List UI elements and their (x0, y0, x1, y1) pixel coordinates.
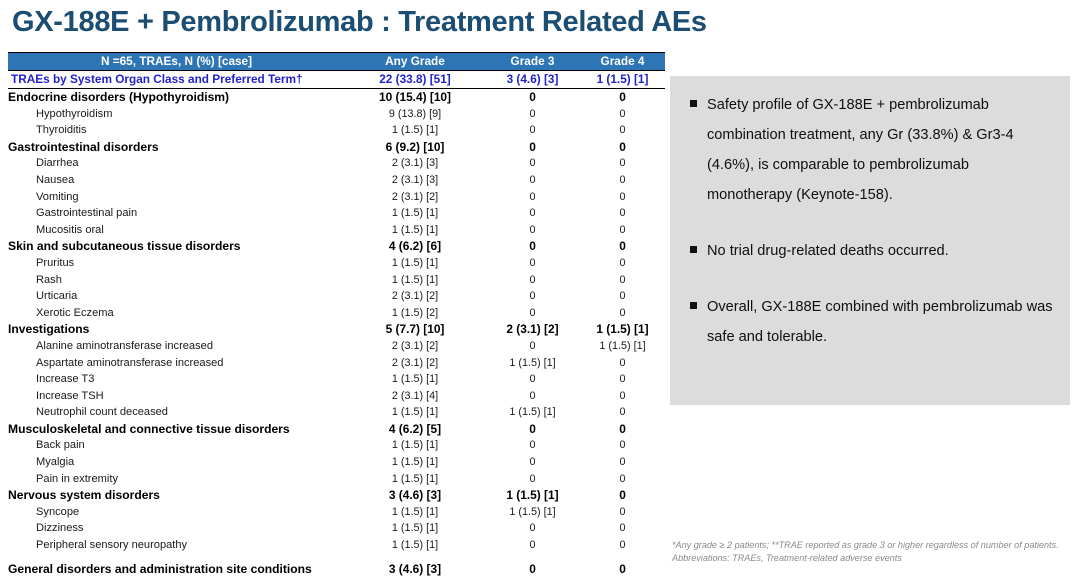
cell-grade-4: 0 (580, 288, 665, 305)
summary-any-grade: 22 (33.8) [51] (345, 71, 485, 89)
cell-grade-3: 0 (485, 338, 580, 355)
cell-any-grade: 5 (7.7) [10] (345, 321, 485, 338)
cell-grade-3: 0 (485, 561, 580, 578)
cell-any-grade: 1 (1.5) [1] (345, 255, 485, 272)
cell-grade-4: 0 (580, 155, 665, 172)
cell-any-grade: 1 (1.5) [1] (345, 272, 485, 289)
preferred-term: Rash (8, 272, 345, 289)
table-row-preferred-term: Increase T31 (1.5) [1]00 (8, 371, 665, 388)
cell-any-grade: 1 (1.5) [1] (345, 205, 485, 222)
cell-grade-4: 0 (580, 172, 665, 189)
cell-grade-4: 0 (580, 122, 665, 139)
preferred-term: Increase TSH (8, 388, 345, 405)
cell-grade-3: 0 (485, 139, 580, 156)
table-row-preferred-term: Syncope1 (1.5) [1]1 (1.5) [1]0 (8, 504, 665, 521)
cell-grade-3: 0 (485, 238, 580, 255)
table-row-system-organ-class: Endocrine disorders (Hypothyroidism)10 (… (8, 89, 665, 106)
preferred-term: Nausea (8, 172, 345, 189)
cell-any-grade: 1 (1.5) [1] (345, 454, 485, 471)
preferred-term: Increase T3 (8, 371, 345, 388)
soc-term: Investigations (8, 321, 345, 338)
cell-grade-3: 1 (1.5) [1] (485, 504, 580, 521)
preferred-term: Thyroiditis (8, 122, 345, 139)
adverse-events-table: N =65, TRAEs, N (%) [case] Any Grade Gra… (8, 52, 665, 577)
soc-term: General disorders and administration sit… (8, 561, 345, 578)
cell-grade-4: 0 (580, 388, 665, 405)
preferred-term: Xerotic Eczema (8, 305, 345, 322)
table-row-preferred-term: Gastrointestinal pain1 (1.5) [1]00 (8, 205, 665, 222)
cell-grade-3: 0 (485, 454, 580, 471)
table-row-preferred-term: Nausea2 (3.1) [3]00 (8, 172, 665, 189)
cell-grade-3: 0 (485, 537, 580, 554)
preferred-term: Pain in extremity (8, 471, 345, 488)
preferred-term: Mucositis oral (8, 222, 345, 239)
preferred-term: Urticaria (8, 288, 345, 305)
cell-grade-3: 0 (485, 222, 580, 239)
cell-any-grade: 3 (4.6) [3] (345, 561, 485, 578)
summary-term: TRAEs by System Organ Class and Preferre… (8, 71, 345, 89)
cell-grade-3: 0 (485, 288, 580, 305)
preferred-term: Hypothyroidism (8, 106, 345, 123)
cell-any-grade: 1 (1.5) [1] (345, 404, 485, 421)
cell-grade-4: 0 (580, 504, 665, 521)
cell-any-grade: 2 (3.1) [2] (345, 355, 485, 372)
soc-term: Gastrointestinal disorders (8, 139, 345, 156)
cell-grade-4: 1 (1.5) [1] (580, 338, 665, 355)
table-row-system-organ-class: Investigations5 (7.7) [10]2 (3.1) [2]1 (… (8, 321, 665, 338)
preferred-term: Dizziness (8, 520, 345, 537)
table-row-preferred-term: Urticaria2 (3.1) [2]00 (8, 288, 665, 305)
bullet-square-icon (690, 100, 697, 107)
preferred-term: Neutrophil count deceased (8, 404, 345, 421)
table-row-preferred-term: Back pain1 (1.5) [1]00 (8, 437, 665, 454)
table-row-preferred-term: Peripheral sensory neuropathy1 (1.5) [1]… (8, 537, 665, 554)
summary-grade-4: 1 (1.5) [1] (580, 71, 665, 89)
cell-any-grade: 6 (9.2) [10] (345, 139, 485, 156)
cell-grade-3: 0 (485, 471, 580, 488)
callout-bullet: No trial drug-related deaths occurred. (684, 236, 1054, 266)
cell-grade-4: 0 (580, 139, 665, 156)
cell-grade-3: 0 (485, 89, 580, 106)
cell-grade-4: 0 (580, 561, 665, 578)
cell-grade-3: 0 (485, 520, 580, 537)
cell-grade-4: 0 (580, 355, 665, 372)
table-header: N =65, TRAEs, N (%) [case] Any Grade Gra… (8, 53, 665, 71)
cell-any-grade: 1 (1.5) [1] (345, 437, 485, 454)
table-row-preferred-term: Dizziness1 (1.5) [1]00 (8, 520, 665, 537)
cell-grade-3: 1 (1.5) [1] (485, 355, 580, 372)
soc-term: Musculoskeletal and connective tissue di… (8, 421, 345, 438)
cell-grade-4: 0 (580, 520, 665, 537)
cell-grade-4: 1 (1.5) [1] (580, 321, 665, 338)
trae-table: N =65, TRAEs, N (%) [case] Any Grade Gra… (8, 52, 665, 577)
cell-any-grade: 3 (4.6) [3] (345, 487, 485, 504)
cell-grade-3: 0 (485, 421, 580, 438)
table-row-preferred-term: Rash1 (1.5) [1]00 (8, 272, 665, 289)
cell-grade-4: 0 (580, 454, 665, 471)
preferred-term: Vomiting (8, 189, 345, 206)
footnote: *Any grade ≥ 2 patients; **TRAE reported… (672, 539, 1072, 564)
table-row-system-organ-class: Musculoskeletal and connective tissue di… (8, 421, 665, 438)
cell-grade-3: 0 (485, 272, 580, 289)
bullet-square-icon (690, 246, 697, 253)
column-header-grade-3: Grade 3 (485, 53, 580, 71)
callout-bullet-text: Overall, GX-188E combined with pembroliz… (707, 292, 1054, 352)
table-row-preferred-term: Myalgia1 (1.5) [1]00 (8, 454, 665, 471)
bullet-square-icon (690, 302, 697, 309)
cell-grade-4: 0 (580, 437, 665, 454)
table-row-preferred-term: Hypothyroidism9 (13.8) [9]00 (8, 106, 665, 123)
page-title: GX-188E + Pembrolizumab : Treatment Rela… (12, 2, 1052, 42)
preferred-term: Myalgia (8, 454, 345, 471)
cell-grade-3: 0 (485, 437, 580, 454)
table-row-preferred-term: Thyroiditis1 (1.5) [1]00 (8, 122, 665, 139)
cell-any-grade: 2 (3.1) [3] (345, 155, 485, 172)
cell-any-grade: 9 (13.8) [9] (345, 106, 485, 123)
table-row-preferred-term: Neutrophil count deceased1 (1.5) [1]1 (1… (8, 404, 665, 421)
summary-callout-panel: Safety profile of GX-188E + pembrolizuma… (670, 76, 1070, 405)
cell-grade-4: 0 (580, 272, 665, 289)
cell-grade-3: 0 (485, 106, 580, 123)
cell-grade-4: 0 (580, 404, 665, 421)
column-header-term: N =65, TRAEs, N (%) [case] (8, 53, 345, 71)
callout-bullet-text: Safety profile of GX-188E + pembrolizuma… (707, 90, 1054, 210)
table-row-preferred-term: Aspartate aminotransferase increased2 (3… (8, 355, 665, 372)
cell-grade-3: 2 (3.1) [2] (485, 321, 580, 338)
callout-bullet: Overall, GX-188E combined with pembroliz… (684, 292, 1054, 352)
cell-grade-4: 0 (580, 371, 665, 388)
cell-grade-4: 0 (580, 487, 665, 504)
cell-any-grade: 1 (1.5) [1] (345, 471, 485, 488)
table-header-row: N =65, TRAEs, N (%) [case] Any Grade Gra… (8, 53, 665, 71)
cell-grade-3: 1 (1.5) [1] (485, 404, 580, 421)
spacer-cell (8, 554, 665, 561)
table-row-preferred-term: Mucositis oral1 (1.5) [1]00 (8, 222, 665, 239)
cell-any-grade: 4 (6.2) [6] (345, 238, 485, 255)
cell-grade-3: 0 (485, 371, 580, 388)
cell-grade-4: 0 (580, 205, 665, 222)
cell-grade-4: 0 (580, 189, 665, 206)
cell-any-grade: 1 (1.5) [1] (345, 537, 485, 554)
preferred-term: Alanine aminotransferase increased (8, 338, 345, 355)
cell-any-grade: 2 (3.1) [2] (345, 338, 485, 355)
preferred-term: Back pain (8, 437, 345, 454)
preferred-term: Syncope (8, 504, 345, 521)
cell-any-grade: 2 (3.1) [3] (345, 172, 485, 189)
cell-grade-3: 0 (485, 122, 580, 139)
cell-grade-3: 0 (485, 388, 580, 405)
cell-any-grade: 1 (1.5) [1] (345, 122, 485, 139)
soc-term: Endocrine disorders (Hypothyroidism) (8, 89, 345, 106)
table-row-preferred-term: Xerotic Eczema1 (1.5) [2]00 (8, 305, 665, 322)
cell-grade-4: 0 (580, 255, 665, 272)
cell-any-grade: 1 (1.5) [1] (345, 520, 485, 537)
cell-grade-4: 0 (580, 471, 665, 488)
table-row-preferred-term: Vomiting2 (3.1) [2]00 (8, 189, 665, 206)
preferred-term: Peripheral sensory neuropathy (8, 537, 345, 554)
column-header-any-grade: Any Grade (345, 53, 485, 71)
column-header-grade-4: Grade 4 (580, 53, 665, 71)
cell-any-grade: 4 (6.2) [5] (345, 421, 485, 438)
cell-grade-3: 1 (1.5) [1] (485, 487, 580, 504)
cell-grade-3: 0 (485, 189, 580, 206)
cell-grade-3: 0 (485, 172, 580, 189)
table-row-system-organ-class: Skin and subcutaneous tissue disorders4 … (8, 238, 665, 255)
preferred-term: Gastrointestinal pain (8, 205, 345, 222)
cell-grade-4: 0 (580, 89, 665, 106)
cell-grade-4: 0 (580, 305, 665, 322)
cell-any-grade: 1 (1.5) [1] (345, 371, 485, 388)
cell-any-grade: 2 (3.1) [2] (345, 189, 485, 206)
cell-any-grade: 2 (3.1) [4] (345, 388, 485, 405)
cell-grade-4: 0 (580, 537, 665, 554)
cell-any-grade: 1 (1.5) [1] (345, 504, 485, 521)
table-row-preferred-term: Pain in extremity1 (1.5) [1]00 (8, 471, 665, 488)
preferred-term: Diarrhea (8, 155, 345, 172)
callout-bullet: Safety profile of GX-188E + pembrolizuma… (684, 90, 1054, 210)
cell-grade-4: 0 (580, 421, 665, 438)
cell-grade-3: 0 (485, 255, 580, 272)
cell-any-grade: 2 (3.1) [2] (345, 288, 485, 305)
table-row-spacer (8, 554, 665, 561)
soc-term: Skin and subcutaneous tissue disorders (8, 238, 345, 255)
table-row-system-organ-class: General disorders and administration sit… (8, 561, 665, 578)
table-row-preferred-term: Alanine aminotransferase increased2 (3.1… (8, 338, 665, 355)
preferred-term: Pruritus (8, 255, 345, 272)
cell-any-grade: 1 (1.5) [2] (345, 305, 485, 322)
summary-grade-3: 3 (4.6) [3] (485, 71, 580, 89)
callout-bullet-text: No trial drug-related deaths occurred. (707, 236, 1054, 266)
table-row-preferred-term: Increase TSH2 (3.1) [4]00 (8, 388, 665, 405)
soc-term: Nervous system disorders (8, 487, 345, 504)
table-row-preferred-term: Pruritus1 (1.5) [1]00 (8, 255, 665, 272)
cell-any-grade: 10 (15.4) [10] (345, 89, 485, 106)
cell-grade-4: 0 (580, 222, 665, 239)
cell-grade-4: 0 (580, 238, 665, 255)
cell-grade-3: 0 (485, 155, 580, 172)
table-row-summary: TRAEs by System Organ Class and Preferre… (8, 71, 665, 89)
cell-grade-3: 0 (485, 305, 580, 322)
cell-any-grade: 1 (1.5) [1] (345, 222, 485, 239)
table-row-preferred-term: Diarrhea2 (3.1) [3]00 (8, 155, 665, 172)
table-row-system-organ-class: Nervous system disorders3 (4.6) [3]1 (1.… (8, 487, 665, 504)
cell-grade-3: 0 (485, 205, 580, 222)
preferred-term: Aspartate aminotransferase increased (8, 355, 345, 372)
table-row-system-organ-class: Gastrointestinal disorders6 (9.2) [10]00 (8, 139, 665, 156)
table-body: TRAEs by System Organ Class and Preferre… (8, 71, 665, 578)
cell-grade-4: 0 (580, 106, 665, 123)
